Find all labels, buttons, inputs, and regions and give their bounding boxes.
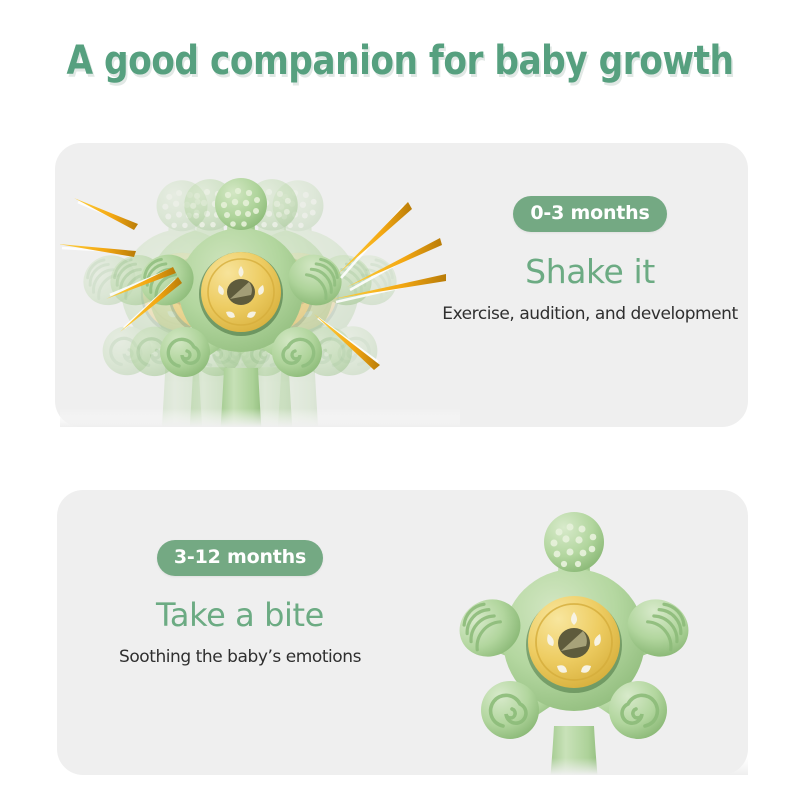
shake-text-block: 0-3 months Shake it Exercise, audition, … [430,196,750,324]
age-badge-3-12-months: 3-12 months [157,540,323,576]
age-badge-0-3-months: 0-3 months [513,196,666,232]
bite-text-block: 3-12 months Take a bite Soothing the bab… [80,540,400,667]
headline-shake-it: Shake it [430,254,750,290]
rattle-toy-illustration [60,150,460,427]
subline-take-a-bite: Soothing the baby’s emotions [80,647,400,667]
subline-shake-it: Exercise, audition, and development [430,304,750,324]
teether-toy-illustration [400,492,748,775]
page-title: A good companion for baby growth [56,38,744,84]
headline-take-a-bite: Take a bite [80,598,400,633]
